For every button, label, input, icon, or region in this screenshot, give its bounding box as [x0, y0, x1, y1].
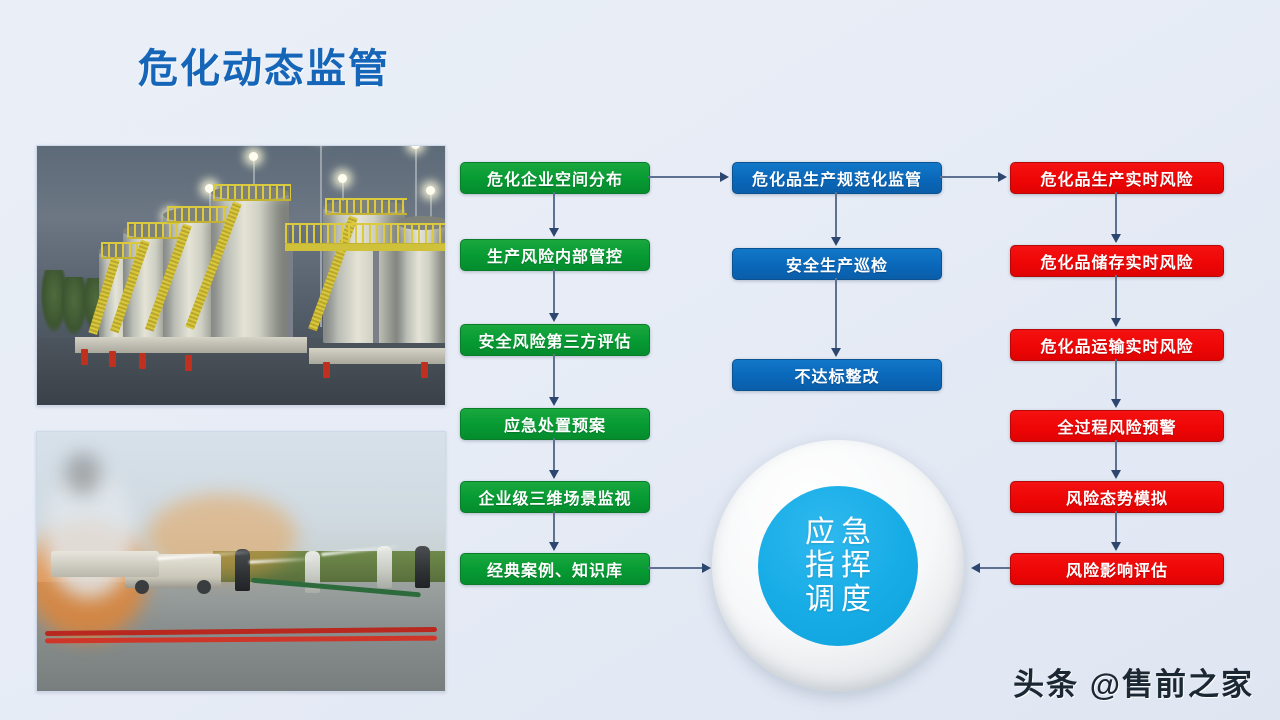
tanker-truck-body: [51, 551, 159, 577]
watermark: 头条 @售前之家: [1013, 659, 1254, 704]
arrowhead-blue-to-red: [998, 172, 1007, 182]
firefighter: [415, 546, 430, 588]
catwalk-column: [287, 251, 293, 343]
bollard: [139, 353, 146, 369]
firefighter: [235, 549, 250, 591]
connector-green-to-blue: [648, 176, 722, 178]
bollard: [421, 362, 428, 378]
flow-node-green-5[interactable]: 经典案例、知识库: [460, 553, 650, 585]
catwalk-railing: [285, 223, 446, 245]
bollard: [323, 362, 330, 378]
flow-node-blue-1[interactable]: 安全生产巡检: [732, 248, 942, 280]
flow-node-green-3[interactable]: 应急处置预案: [460, 408, 650, 440]
arrowhead-green-3-4: [549, 470, 559, 479]
arrowhead-red-to-hub: [971, 563, 980, 573]
bollard: [81, 349, 88, 365]
connector-red-3-4: [1115, 440, 1117, 472]
dark-smoke: [65, 453, 101, 495]
firefighter: [377, 546, 392, 588]
connector-blue-1-2: [835, 278, 837, 350]
hub-inner-disc: 应急 指挥 调度: [758, 486, 918, 646]
bollard: [185, 355, 192, 371]
arrowhead-blue-0-1: [831, 237, 841, 246]
tank-railing: [167, 206, 227, 223]
tank-railing: [213, 184, 291, 201]
connector-red-1-2: [1115, 275, 1117, 319]
connector-blue-to-red: [940, 176, 1000, 178]
image-firefighting-drill: [36, 431, 446, 692]
catwalk-deck: [285, 244, 446, 251]
slide-canvas: 危化动态监管: [0, 0, 1280, 720]
flow-node-green-0[interactable]: 危化企业空间分布: [460, 162, 650, 194]
connector-red-0-1: [1115, 192, 1117, 236]
connector-green-2-3: [553, 354, 555, 399]
flow-node-red-4[interactable]: 风险态势模拟: [1010, 481, 1224, 513]
flow-node-green-4[interactable]: 企业级三维场景监视: [460, 481, 650, 513]
hub-label-line-3: 调度: [799, 583, 877, 617]
arrowhead-green-2-3: [549, 397, 559, 406]
connector-blue-0-1: [835, 192, 837, 239]
hub-label-line-1: 应急: [799, 516, 877, 550]
arrowhead-green-0-1: [549, 228, 559, 237]
truck-wheel: [197, 580, 211, 594]
connector-green-to-hub: [648, 567, 704, 569]
arrowhead-red-1-2: [1111, 318, 1121, 327]
truck-wheel: [135, 580, 149, 594]
flow-node-blue-2[interactable]: 不达标整改: [732, 359, 942, 391]
flow-node-red-3[interactable]: 全过程风险预警: [1010, 410, 1224, 442]
arrowhead-green-to-hub: [702, 563, 711, 573]
lamp-head: [411, 145, 420, 149]
flow-node-blue-0[interactable]: 危化品生产规范化监管: [732, 162, 942, 194]
catwalk-column: [373, 251, 379, 343]
lamp-head: [426, 186, 435, 195]
arrowhead-green-to-blue: [720, 172, 729, 182]
lamp-head: [338, 174, 347, 183]
connector-red-to-hub: [980, 567, 1010, 569]
tank-railing: [127, 222, 179, 239]
connector-green-4-5: [553, 511, 555, 544]
flow-node-red-1[interactable]: 危化品储存实时风险: [1010, 245, 1224, 277]
connector-red-4-5: [1115, 511, 1117, 544]
connector-red-2-3: [1115, 359, 1117, 400]
tank-railing: [325, 198, 407, 215]
connector-green-0-1: [553, 192, 555, 230]
arrowhead-blue-1-2: [831, 348, 841, 357]
connector-green-1-2: [553, 269, 555, 315]
arrowhead-green-4-5: [549, 542, 559, 551]
arrowhead-red-2-3: [1111, 399, 1121, 408]
flow-node-green-1[interactable]: 生产风险内部管控: [460, 239, 650, 271]
arrowhead-red-0-1: [1111, 234, 1121, 243]
hub-label-line-2: 指挥: [799, 549, 877, 583]
arrowhead-red-4-5: [1111, 542, 1121, 551]
flow-node-red-0[interactable]: 危化品生产实时风险: [1010, 162, 1224, 194]
lamp-head: [249, 152, 258, 161]
flow-node-red-2[interactable]: 危化品运输实时风险: [1010, 329, 1224, 361]
emergency-command-hub[interactable]: 应急 指挥 调度: [712, 440, 964, 692]
arrowhead-green-1-2: [549, 313, 559, 322]
flow-node-green-2[interactable]: 安全风险第三方评估: [460, 324, 650, 356]
flow-node-red-5[interactable]: 风险影响评估: [1010, 553, 1224, 585]
image-chemical-storage-tanks: [36, 145, 446, 406]
bollard: [109, 351, 116, 367]
arrowhead-red-3-4: [1111, 470, 1121, 479]
connector-green-3-4: [553, 438, 555, 472]
page-title: 危化动态监管: [138, 36, 390, 94]
